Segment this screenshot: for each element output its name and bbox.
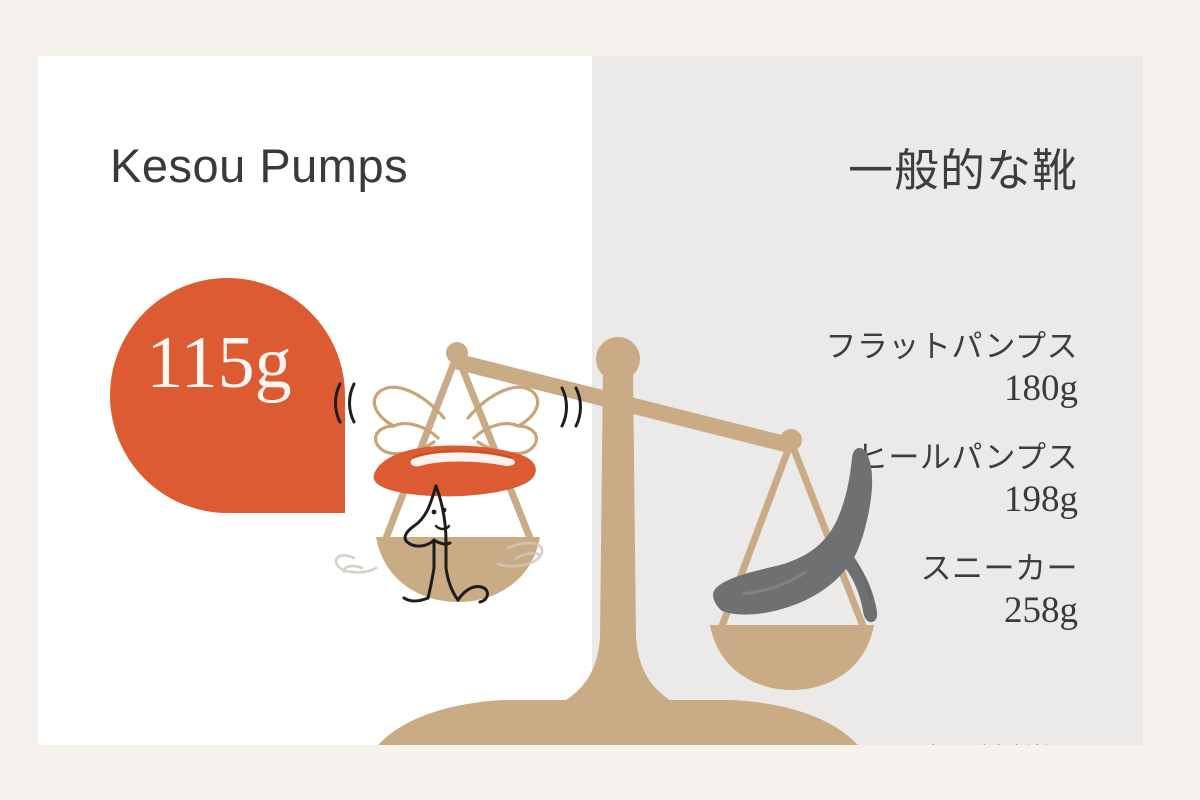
motion-marks-left	[336, 384, 355, 422]
balance-scale-illustration	[318, 306, 918, 745]
right-panel-title: 一般的な靴	[848, 148, 1078, 193]
right-scale-pan	[710, 625, 874, 690]
left-scale-pan	[376, 537, 540, 602]
weight-badge: 115g	[110, 278, 345, 513]
comparison-card: Kesou Pumps 一般的な靴 115g フラットパンプス 180g ヒール…	[38, 56, 1143, 745]
weight-badge-value: 115g	[110, 326, 328, 400]
pivot-knob	[596, 337, 640, 381]
infographic-canvas: Kesou Pumps 一般的な靴 115g フラットパンプス 180g ヒール…	[0, 0, 1200, 800]
footnote: ※21年9月時点当社調べ	[891, 739, 1078, 745]
page-title: Kesou Pumps	[110, 142, 408, 189]
